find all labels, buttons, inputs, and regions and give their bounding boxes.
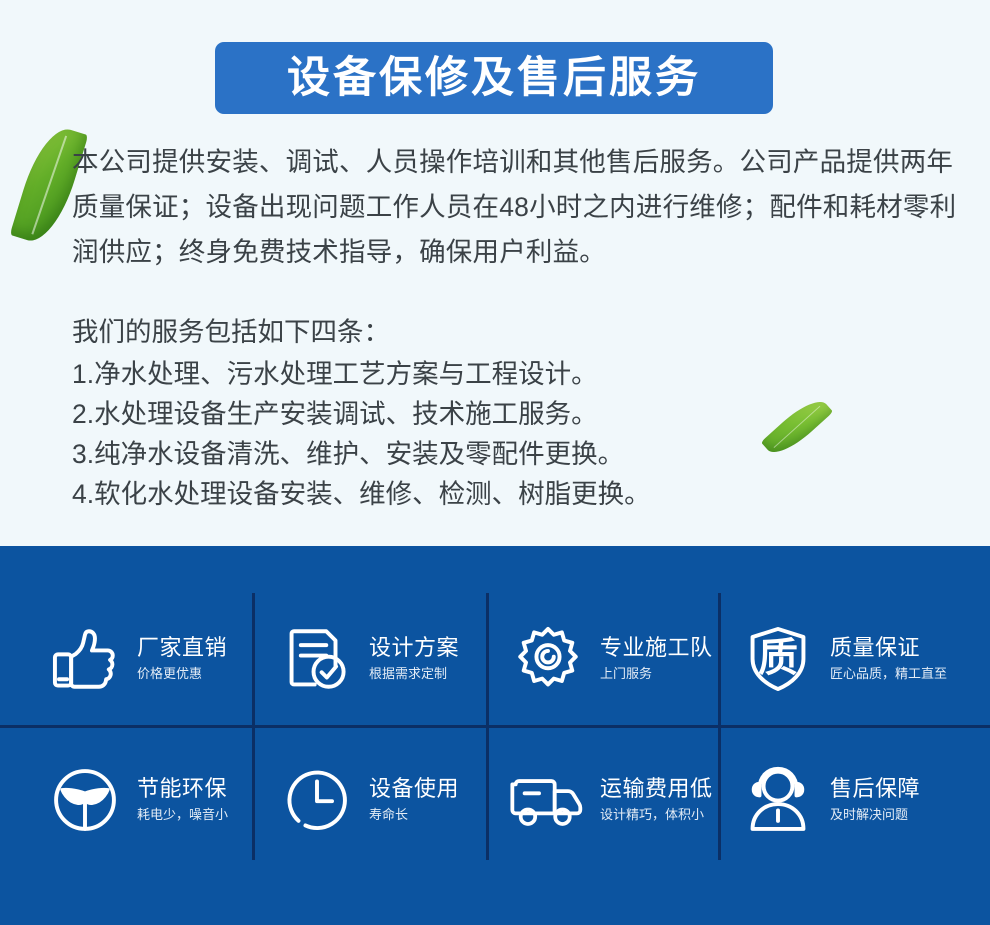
headset-support-icon <box>738 760 818 840</box>
feature-cell-low-shipping[interactable]: 运输费用低 设计精巧，体积小 <box>508 730 713 870</box>
truck-icon <box>508 760 588 840</box>
shield-quality-icon: 质 <box>738 619 818 699</box>
feature-subtitle: 根据需求定制 <box>369 664 459 684</box>
gear-icon <box>508 619 588 699</box>
feature-title: 运输费用低 <box>600 775 713 803</box>
feature-text: 运输费用低 设计精巧，体积小 <box>600 775 713 825</box>
shield-glyph: 质 <box>758 638 798 678</box>
page-title-banner: 设备保修及售后服务 <box>215 42 773 114</box>
eco-leaf-icon <box>45 760 125 840</box>
feature-cell-design-plan[interactable]: 设计方案 根据需求定制 <box>277 589 459 729</box>
feature-cell-energy-saving[interactable]: 节能环保 耗电少，噪音小 <box>45 730 228 870</box>
feature-subtitle: 及时解决问题 <box>830 805 920 825</box>
feature-subtitle: 价格更优惠 <box>137 664 227 684</box>
feature-subtitle: 设计精巧，体积小 <box>600 805 713 825</box>
feature-text: 设计方案 根据需求定制 <box>369 634 459 684</box>
service-item-2: 2.水处理设备生产安装调试、技术施工服务。 <box>72 394 832 434</box>
feature-title: 节能环保 <box>137 775 228 803</box>
feature-text: 专业施工队 上门服务 <box>600 634 713 684</box>
page-title: 设备保修及售后服务 <box>287 57 701 100</box>
feature-subtitle: 寿命长 <box>369 805 459 825</box>
feature-title: 售后保障 <box>830 775 920 803</box>
feature-subtitle: 匠心品质，精工直至 <box>830 664 947 684</box>
feature-cell-professional-team[interactable]: 专业施工队 上门服务 <box>508 589 713 729</box>
thumbs-up-icon <box>45 619 125 699</box>
feature-text: 质量保证 匠心品质，精工直至 <box>830 634 947 684</box>
feature-cell-quality-guarantee[interactable]: 质 质量保证 匠心品质，精工直至 <box>738 589 947 729</box>
service-item-3: 3.纯净水设备清洗、维护、安装及零配件更换。 <box>72 434 832 474</box>
services-list: 我们的服务包括如下四条： 1.净水处理、污水处理工艺方案与工程设计。 2.水处理… <box>72 312 832 514</box>
feature-title: 设计方案 <box>369 634 459 662</box>
feature-title: 设备使用 <box>369 775 459 803</box>
services-heading: 我们的服务包括如下四条： <box>72 312 832 352</box>
intro-paragraph: 本公司提供安装、调试、人员操作培训和其他售后服务。公司产品提供两年质量保证；设备… <box>72 140 960 275</box>
feature-subtitle: 上门服务 <box>600 664 713 684</box>
service-item-4: 4.软化水处理设备安装、维修、检测、树脂更换。 <box>72 474 832 514</box>
top-section: 设备保修及售后服务 本公司提供安装、调试、人员操作培训和其他售后服务。公司产品提… <box>0 0 990 546</box>
feature-title: 厂家直销 <box>137 634 227 662</box>
feature-text: 售后保障 及时解决问题 <box>830 775 920 825</box>
clock-icon <box>277 760 357 840</box>
document-check-icon <box>277 619 357 699</box>
feature-cell-manufacturer-direct[interactable]: 厂家直销 价格更优惠 <box>45 589 227 729</box>
service-item-1: 1.净水处理、污水处理工艺方案与工程设计。 <box>72 354 832 394</box>
feature-panel: 厂家直销 价格更优惠 设计方案 根据需求定制 <box>0 546 990 925</box>
feature-grid: 厂家直销 价格更优惠 设计方案 根据需求定制 <box>0 546 990 925</box>
feature-text: 节能环保 耗电少，噪音小 <box>137 775 228 825</box>
feature-title: 专业施工队 <box>600 634 713 662</box>
feature-cell-equipment-lifespan[interactable]: 设备使用 寿命长 <box>277 730 459 870</box>
feature-text: 厂家直销 价格更优惠 <box>137 634 227 684</box>
feature-text: 设备使用 寿命长 <box>369 775 459 825</box>
feature-subtitle: 耗电少，噪音小 <box>137 805 228 825</box>
feature-cell-after-sales[interactable]: 售后保障 及时解决问题 <box>738 730 920 870</box>
feature-title: 质量保证 <box>830 634 947 662</box>
